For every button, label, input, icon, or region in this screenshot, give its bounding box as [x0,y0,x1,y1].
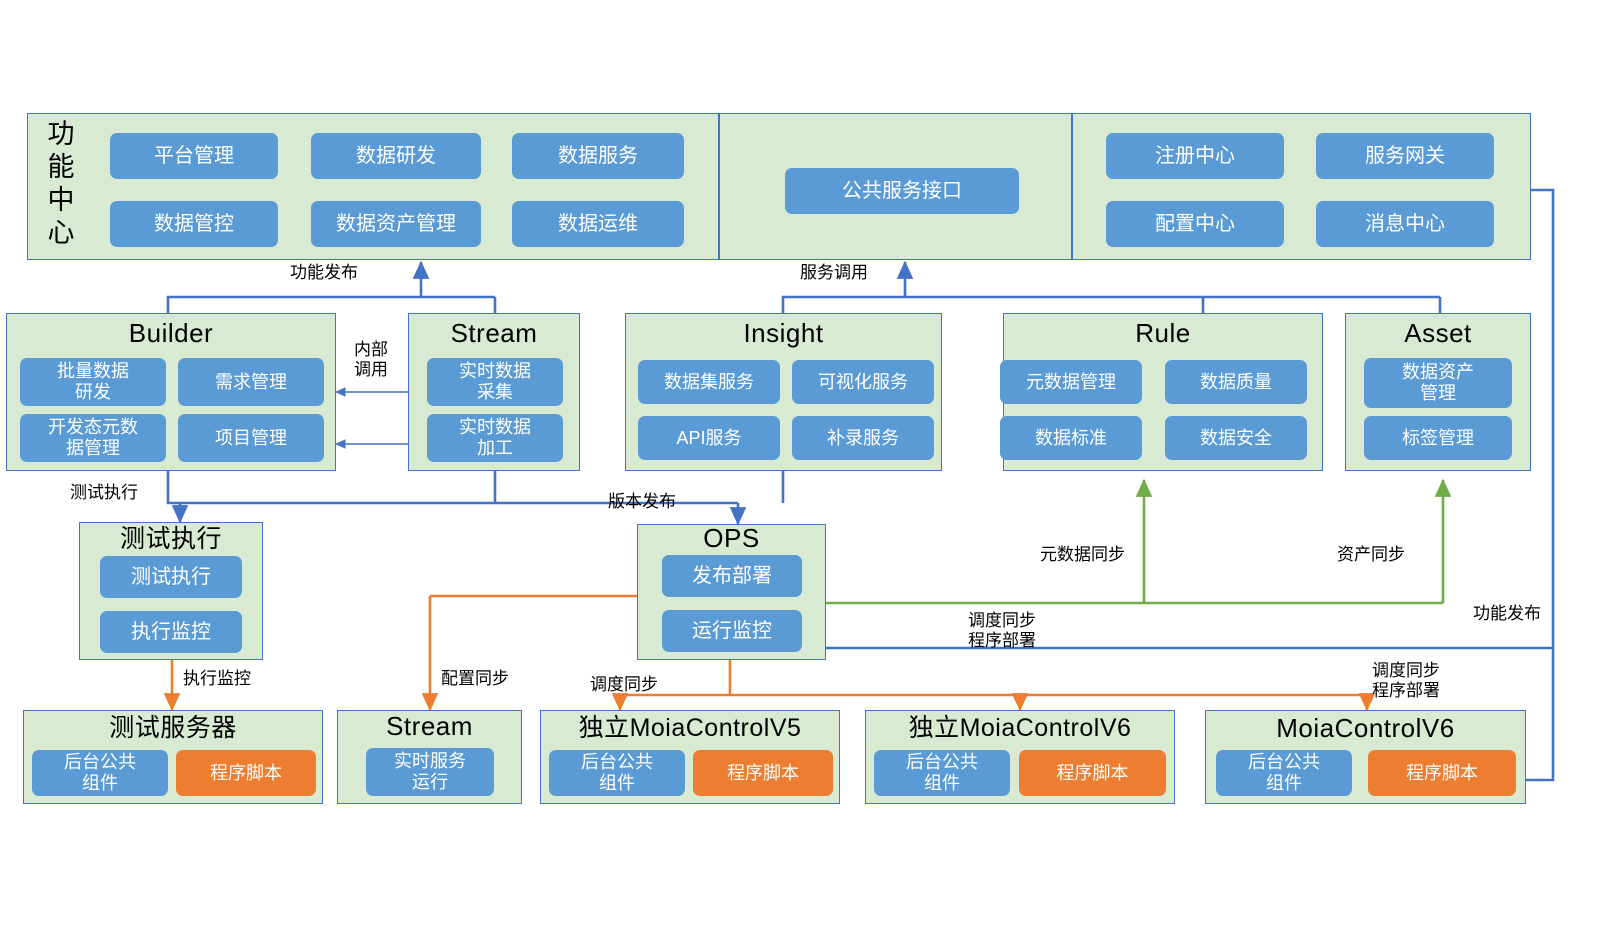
chip-data-service[interactable]: 数据服务 [512,133,684,179]
server-moia-v6-standalone-title: 独立MoiaControlV6 [865,713,1175,743]
chip-data-asset-management[interactable]: 数据资产管理 [311,201,481,247]
edge-label-config-sync: 配置同步 [441,669,509,689]
module-insight-title: Insight [625,318,942,348]
module-builder-title: Builder [6,318,336,348]
chip-data-development[interactable]: 数据研发 [311,133,481,179]
function-center-side-label: 功能中心 [41,118,81,250]
chip-dataset-service[interactable]: 数据集服务 [638,360,780,404]
chip-tag-management[interactable]: 标签管理 [1364,416,1512,460]
module-asset-title: Asset [1345,318,1531,348]
chip-test-execution[interactable]: 测试执行 [100,556,242,598]
chip-program-script-v6[interactable]: 程序脚本 [1368,750,1516,796]
edge-label-exec-monitor: 执行监控 [183,669,251,689]
edge-label-service-call: 服务调用 [800,263,868,283]
chip-platform-management[interactable]: 平台管理 [110,133,278,179]
chip-backend-common-component-v5[interactable]: 后台公共 组件 [549,750,685,796]
module-rule-title: Rule [1003,318,1323,348]
chip-data-standard[interactable]: 数据标准 [1000,416,1142,460]
chip-realtime-data-processing[interactable]: 实时数据 加工 [427,414,563,462]
chip-release-deploy[interactable]: 发布部署 [662,555,802,597]
chip-backend-common-component-v6s[interactable]: 后台公共 组件 [874,750,1010,796]
chip-service-gateway[interactable]: 服务网关 [1316,133,1494,179]
edge-label-version-release: 版本发布 [608,492,676,512]
server-moia-v6-title: MoiaControlV6 [1205,713,1526,743]
chip-config-center[interactable]: 配置中心 [1106,201,1284,247]
server-test-server-title: 测试服务器 [23,713,323,743]
chip-api-service[interactable]: API服务 [638,416,780,460]
chip-execution-monitoring[interactable]: 执行监控 [100,611,242,653]
server-stream-title: Stream [337,711,522,741]
edge-label-function-publish-right: 功能发布 [1473,604,1541,624]
module-ops-title: OPS [637,523,826,553]
chip-dev-metadata-management[interactable]: 开发态元数 据管理 [20,414,166,462]
chip-visualization-service[interactable]: 可视化服务 [792,360,934,404]
edge-label-schedule-deploy-right: 调度同步 程序部署 [1372,661,1440,701]
edge-label-schedule-deploy-mid: 调度同步 程序部署 [968,611,1036,651]
function-center-divider-2 [1071,114,1073,259]
chip-program-script-v5[interactable]: 程序脚本 [693,750,833,796]
chip-data-governance[interactable]: 数据管控 [110,201,278,247]
edge-label-schedule-sync-v5: 调度同步 [590,675,658,695]
chip-registry-center[interactable]: 注册中心 [1106,133,1284,179]
chip-public-service-interface[interactable]: 公共服务接口 [785,168,1019,214]
chip-message-center[interactable]: 消息中心 [1316,201,1494,247]
edge-label-function-publish-top: 功能发布 [290,263,358,283]
chip-runtime-monitoring[interactable]: 运行监控 [662,610,802,652]
edge-label-metadata-sync: 元数据同步 [1040,545,1125,565]
chip-realtime-service-running[interactable]: 实时服务 运行 [366,748,494,796]
chip-backend-common-component-test[interactable]: 后台公共 组件 [32,750,168,796]
chip-data-security[interactable]: 数据安全 [1165,416,1307,460]
chip-metadata-management[interactable]: 元数据管理 [1000,360,1142,404]
chip-data-asset-mgmt[interactable]: 数据资产 管理 [1364,358,1512,408]
chip-program-script-v6s[interactable]: 程序脚本 [1019,750,1166,796]
chip-supplement-service[interactable]: 补录服务 [792,416,934,460]
edge-label-internal-call: 内部 调用 [341,340,401,380]
chip-data-quality[interactable]: 数据质量 [1165,360,1307,404]
edge-label-test-execute: 测试执行 [70,483,138,503]
chip-backend-common-component-v6[interactable]: 后台公共 组件 [1216,750,1352,796]
server-moia-v5-title: 独立MoiaControlV5 [540,713,840,743]
edge-label-asset-sync: 资产同步 [1337,545,1405,565]
architecture-diagram: 功能中心 平台管理 数据研发 数据服务 数据管控 数据资产管理 数据运维 公共服… [0,0,1611,940]
chip-project-management[interactable]: 项目管理 [178,414,324,462]
chip-requirement-management[interactable]: 需求管理 [178,358,324,406]
chip-program-script-test[interactable]: 程序脚本 [176,750,316,796]
chip-realtime-data-collection[interactable]: 实时数据 采集 [427,358,563,406]
module-stream-title: Stream [408,318,580,348]
function-center-divider-1 [718,114,720,259]
module-test-execution-title: 测试执行 [79,524,263,554]
chip-batch-data-development[interactable]: 批量数据 研发 [20,358,166,406]
chip-data-operations[interactable]: 数据运维 [512,201,684,247]
